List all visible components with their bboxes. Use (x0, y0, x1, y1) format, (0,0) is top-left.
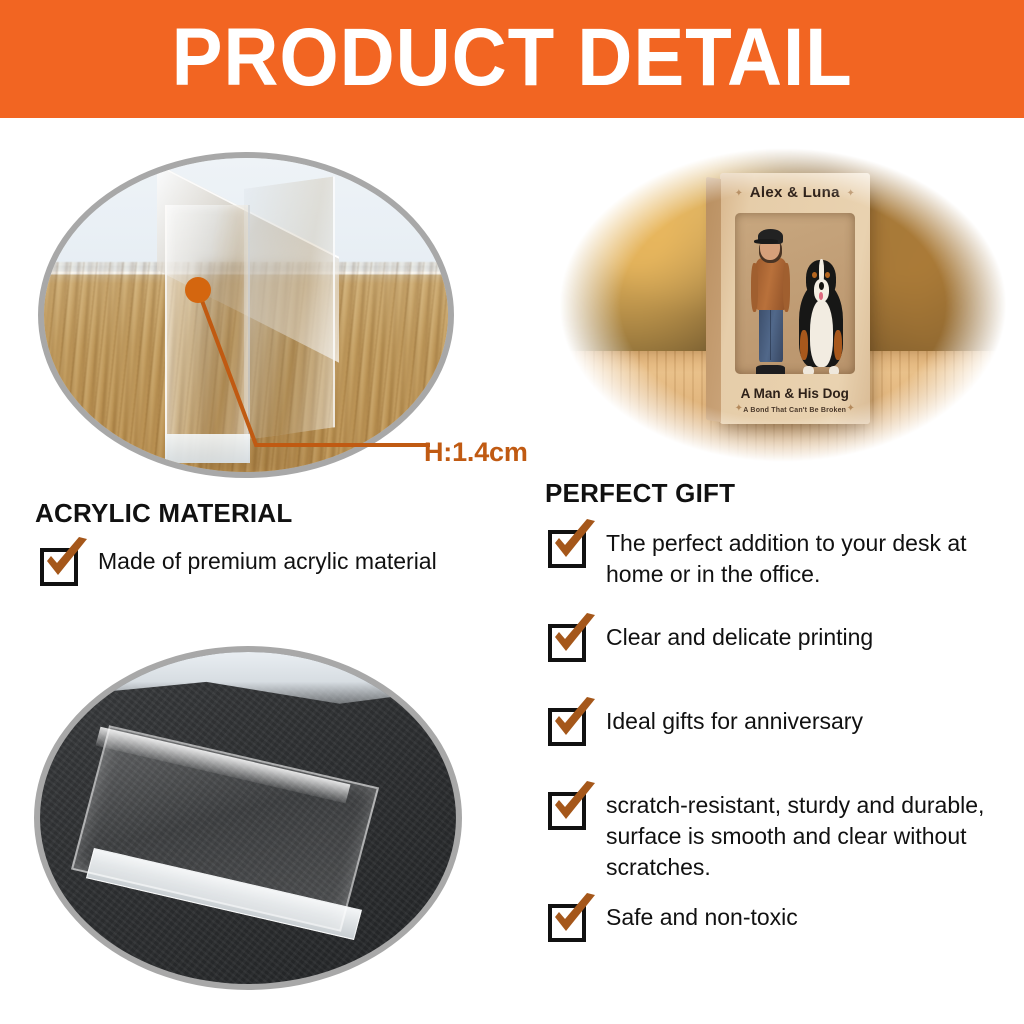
photo-acrylic-slab (34, 646, 462, 990)
gift-box-tagline: A Bond That Can't Be Broken (720, 407, 870, 414)
feature-label: Safe and non-toxic (606, 902, 798, 933)
gift-box: Alex & Luna ✦ ✦ ✦ ✦ (720, 173, 870, 424)
gift-box-subtitle: A Man & His Dog (720, 386, 870, 401)
sparkle-icon: ✦ (847, 188, 855, 199)
checkbox-icon[interactable] (548, 792, 586, 830)
checkbox-icon[interactable] (548, 904, 586, 942)
feature-item: Clear and delicate printing (548, 622, 873, 662)
feature-label: Made of premium acrylic material (98, 546, 437, 577)
page-title: PRODUCT DETAIL (172, 17, 853, 99)
checkbox-icon[interactable] (548, 624, 586, 662)
check-icon (549, 519, 601, 569)
feature-label: Ideal gifts for anniversary (606, 706, 863, 737)
header-banner: PRODUCT DETAIL (0, 0, 1024, 118)
gift-box-window (735, 213, 855, 374)
check-icon (41, 537, 93, 587)
feature-item: scratch-resistant, sturdy and durable, s… (548, 790, 1006, 883)
check-icon (549, 781, 601, 831)
checkbox-icon[interactable] (548, 530, 586, 568)
measurement-label: H:1.4cm (424, 437, 528, 468)
figurine-man (749, 226, 792, 374)
figurine-dog (795, 258, 848, 374)
feature-label: scratch-resistant, sturdy and durable, s… (606, 790, 1006, 883)
feature-item: Made of premium acrylic material (40, 546, 437, 586)
slate-surface (40, 652, 456, 984)
feature-label: The perfect addition to your desk at hom… (606, 528, 1006, 590)
sparkle-icon: ✦ (735, 188, 743, 199)
feature-item: The perfect addition to your desk at hom… (548, 528, 1006, 590)
feature-item: Ideal gifts for anniversary (548, 706, 863, 746)
product-detail-page: PRODUCT DETAIL H:1.4cm Alex & Luna ✦ ✦ ✦… (0, 0, 1024, 1024)
checkbox-icon[interactable] (40, 548, 78, 586)
checkbox-icon[interactable] (548, 708, 586, 746)
heading-acrylic-material: ACRYLIC MATERIAL (35, 498, 292, 529)
photo-gift-box: Alex & Luna ✦ ✦ ✦ ✦ (548, 140, 1018, 470)
feature-label: Clear and delicate printing (606, 622, 873, 653)
check-icon (549, 697, 601, 747)
measurement-dot (185, 277, 211, 303)
check-icon (549, 613, 601, 663)
check-icon (549, 893, 601, 943)
feature-item: Safe and non-toxic (548, 902, 798, 942)
heading-perfect-gift: PERFECT GIFT (545, 478, 735, 509)
